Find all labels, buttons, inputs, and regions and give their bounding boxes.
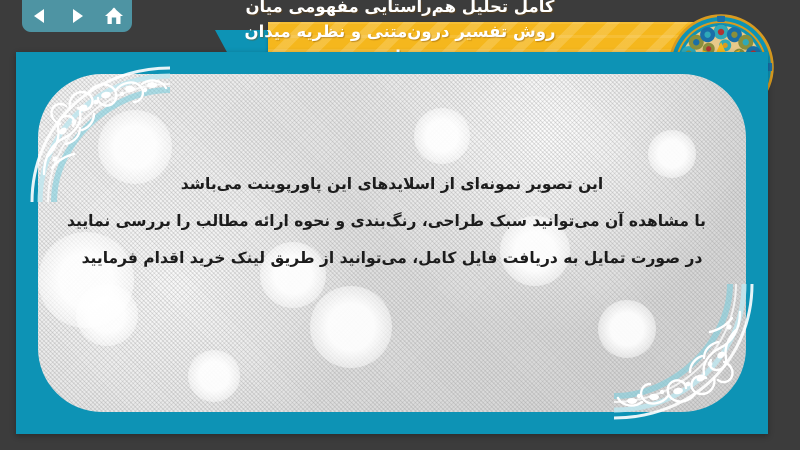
bokeh-circle	[76, 284, 138, 346]
bokeh-circle	[310, 286, 392, 368]
bokeh-circle	[188, 350, 240, 402]
body-line-2: با مشاهده آن می‌توانید سبک طراحی، رنگ‌بن…	[78, 203, 706, 240]
bokeh-circle	[414, 108, 470, 164]
content-panel: این تصویر نمونه‌ای از اسلایدهای این پاور…	[16, 52, 768, 434]
arabesque-ornament-top-left	[30, 64, 180, 204]
arabesque-ornament-bottom-right	[604, 282, 754, 422]
body-line-3: در صورت تمایل به دریافت فایل کامل، می‌تو…	[78, 240, 706, 277]
presentation-slide: کامل تحلیل هم‌راستایی مفهومی میان روش تف…	[0, 0, 800, 450]
